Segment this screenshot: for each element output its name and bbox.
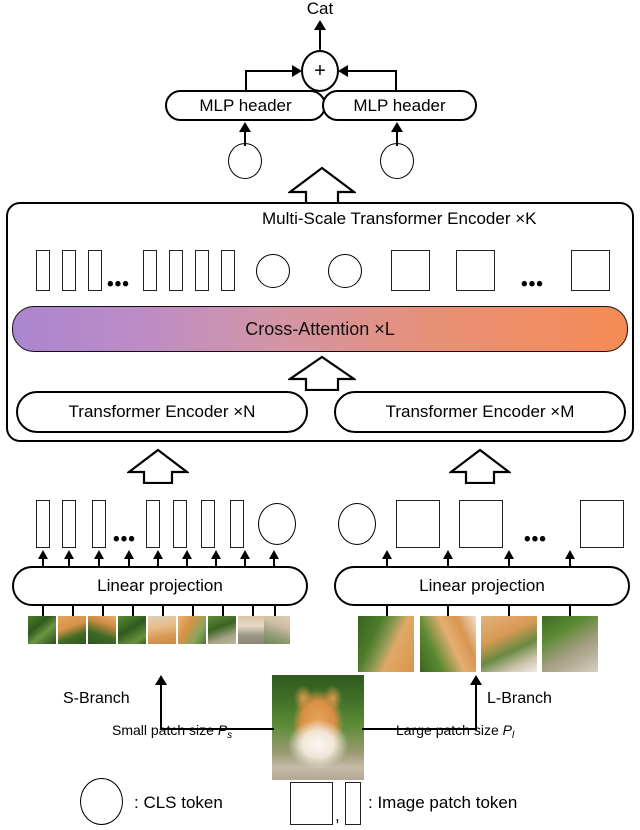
transformer-encoder-large-label: Transformer Encoder ×M xyxy=(386,402,575,422)
proj-arrowhead-large xyxy=(565,550,575,559)
large-patch-size-symbol: P xyxy=(503,722,512,738)
patch-token-tall xyxy=(36,250,50,291)
l-branch-label: L-Branch xyxy=(487,690,552,708)
linear-projection-small-branch[interactable]: Linear projection xyxy=(12,566,308,606)
small-patch-size-text: Small patch size xyxy=(112,722,214,738)
cls-left-to-mlp-line xyxy=(244,130,246,146)
image-patch-large xyxy=(481,616,537,672)
embedded-cls-token-small xyxy=(258,503,296,545)
image-patch-small xyxy=(208,616,236,644)
image-patch-large xyxy=(542,616,598,672)
large-patch-size-text: Large patch size xyxy=(396,722,499,738)
image-patch-small xyxy=(178,616,206,644)
embedded-patch-token-tall xyxy=(146,500,160,548)
linear-projection-large-label: Linear projection xyxy=(419,576,545,596)
large-patch-size-subscript: l xyxy=(512,730,514,741)
multi-scale-encoder-title: Multi-Scale Transformer Encoder ×K xyxy=(262,210,536,227)
embedded-cls-token-large xyxy=(338,503,376,545)
token-ellipsis-small: ••• xyxy=(107,275,130,294)
sum-to-output-arrowhead xyxy=(314,20,326,30)
patch-token-tall xyxy=(62,250,76,291)
mlp-header-left[interactable]: MLP header xyxy=(165,90,326,121)
token-ellipsis-large: ••• xyxy=(521,275,544,294)
embedded-patch-token-tall xyxy=(173,500,187,548)
image-patch-large xyxy=(420,616,476,672)
cross-attention-label: Cross-Attention ×L xyxy=(245,319,395,340)
image-patch-small xyxy=(58,616,86,644)
proj-arrowhead-large xyxy=(504,550,514,559)
embedded-patch-token-tall xyxy=(230,500,244,548)
embedded-patch-token-tall xyxy=(201,500,215,548)
cls-right-to-mlp-arrowhead xyxy=(391,122,403,132)
image-patch-small xyxy=(238,616,266,644)
proj-arrowhead xyxy=(124,550,134,559)
proj-arrowhead xyxy=(153,550,163,559)
large-patch-size-label: Large patch size Pl xyxy=(396,722,514,741)
linear-projection-large-branch[interactable]: Linear projection xyxy=(334,566,630,606)
image-patch-small xyxy=(264,616,290,644)
sum-symbol: + xyxy=(314,60,326,83)
legend-patch-text: : Image patch token xyxy=(368,793,517,813)
cls-right-to-mlp-line xyxy=(396,130,398,146)
cls-token-right-head xyxy=(380,143,414,179)
image-patch-small xyxy=(88,616,116,644)
left-head-to-sum-arrowhead xyxy=(292,65,302,77)
transformer-encoder-large-branch[interactable]: Transformer Encoder ×M xyxy=(334,391,626,433)
left-head-to-sum-vline xyxy=(245,70,247,92)
proj-arrowhead xyxy=(64,550,74,559)
image-patch-small xyxy=(148,616,176,644)
embedded-patch-token-tall xyxy=(92,500,106,548)
image-patch-large xyxy=(358,616,414,672)
output-class-label: Cat xyxy=(0,0,640,17)
patch-token-tall xyxy=(169,250,183,291)
small-patch-size-subscript: s xyxy=(227,730,232,741)
legend-cls-circle-icon xyxy=(80,778,123,825)
embedded-token-ellipsis-large: ••• xyxy=(524,530,547,549)
proj-arrowhead xyxy=(38,550,48,559)
embedded-patch-token-square xyxy=(396,500,440,548)
cls-token-large-branch xyxy=(328,254,362,288)
right-head-to-sum-vline xyxy=(395,70,397,92)
cls-left-to-mlp-arrowhead xyxy=(239,122,251,132)
proj-arrowhead xyxy=(182,550,192,559)
image-patch-small xyxy=(28,616,56,644)
block-arrow-encoder-to-heads xyxy=(288,166,356,206)
embedded-token-ellipsis-small: ••• xyxy=(113,530,136,549)
block-arrow-to-small-encoder xyxy=(127,448,189,484)
cls-token-left-head xyxy=(228,143,262,179)
input-image-cat xyxy=(272,675,364,780)
proj-arrowhead xyxy=(240,550,250,559)
mlp-header-left-label: MLP header xyxy=(199,96,291,116)
legend-square-token-icon xyxy=(290,782,333,825)
proj-arrowhead xyxy=(211,550,221,559)
patch-token-square xyxy=(571,250,610,291)
embedded-patch-token-square xyxy=(580,500,624,548)
block-arrow-to-large-encoder xyxy=(449,448,511,484)
embedded-patch-token-tall xyxy=(36,500,50,548)
proj-arrowhead-large xyxy=(382,550,392,559)
sum-to-output-line xyxy=(319,28,321,52)
small-patch-size-symbol: P xyxy=(218,722,227,738)
l-branch-arrowhead xyxy=(470,675,482,685)
proj-arrowhead xyxy=(94,550,104,559)
small-patch-size-label: Small patch size Ps xyxy=(112,722,232,741)
legend-cls-text: : CLS token xyxy=(134,793,223,813)
proj-arrowhead-large xyxy=(443,550,453,559)
mlp-header-right[interactable]: MLP header xyxy=(322,90,477,121)
embedded-patch-token-tall xyxy=(62,500,76,548)
cross-attention-module[interactable]: Cross-Attention ×L xyxy=(12,306,628,352)
embedded-patch-token-square xyxy=(459,500,503,548)
image-patch-small xyxy=(118,616,146,644)
s-branch-arrowhead xyxy=(155,675,167,685)
transformer-encoder-small-label: Transformer Encoder ×N xyxy=(69,402,256,422)
legend-comma: , xyxy=(335,806,340,826)
patch-token-tall xyxy=(195,250,209,291)
linear-projection-small-label: Linear projection xyxy=(97,576,223,596)
cls-token-small-branch xyxy=(256,254,290,288)
right-head-to-sum-hline xyxy=(346,70,397,72)
mlp-header-right-label: MLP header xyxy=(353,96,445,116)
patch-token-tall xyxy=(221,250,235,291)
s-branch-label: S-Branch xyxy=(63,690,130,708)
legend-tall-token-icon xyxy=(345,782,361,825)
patch-token-tall xyxy=(88,250,102,291)
block-arrow-encoders-to-cross-attention xyxy=(288,355,356,391)
proj-arrowhead xyxy=(269,550,279,559)
transformer-encoder-small-branch[interactable]: Transformer Encoder ×N xyxy=(16,391,308,433)
patch-token-tall xyxy=(143,250,157,291)
patch-token-square xyxy=(456,250,495,291)
patch-token-square xyxy=(391,250,430,291)
left-head-to-sum-hline xyxy=(245,70,295,72)
sum-node: + xyxy=(301,50,339,92)
right-head-to-sum-arrowhead xyxy=(338,65,348,77)
